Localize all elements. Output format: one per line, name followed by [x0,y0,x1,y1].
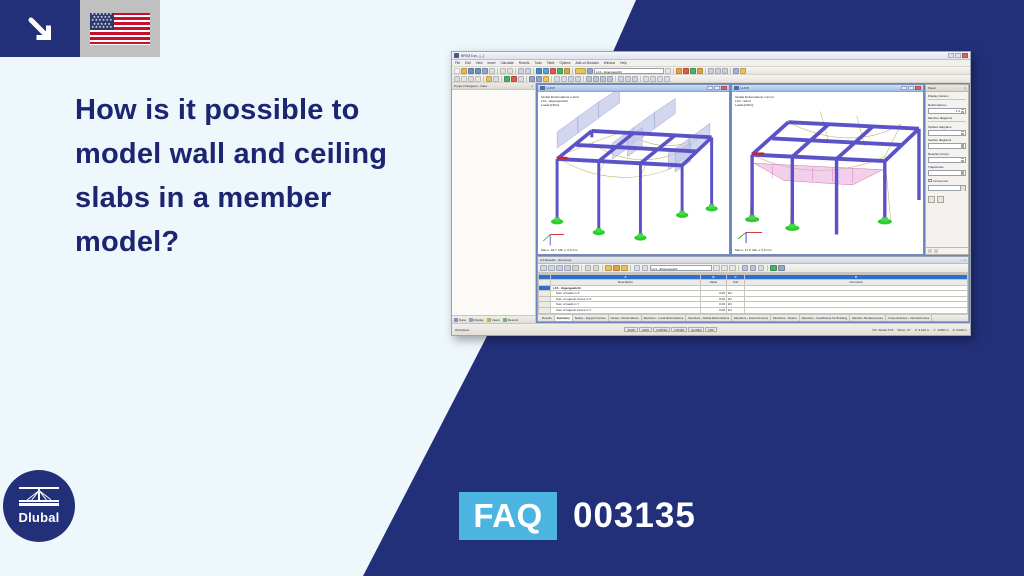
print-preview-icon[interactable] [482,68,488,74]
status-plane: Plane: XY [897,328,910,332]
status-cs: CS: Global XYZ [872,328,893,332]
view-left-title: LUCP [547,86,555,90]
checkbox-box[interactable] [928,179,932,183]
table-view-icon[interactable] [540,265,547,272]
model-3d-left [538,92,729,254]
text-icon[interactable] [561,76,567,82]
select-icon[interactable] [454,76,460,82]
support-forces-icon[interactable] [697,68,703,74]
panel-label-member-diagrams: Member diagrams [928,116,966,120]
calculate-icon[interactable] [676,68,682,74]
rfem-window: RFEM 5.xx - [...] File Edit View Insert … [451,51,971,336]
view-right-footer: Max u: 17.0, Min u: 0.0 mm [735,248,771,252]
deselect-icon[interactable] [593,265,600,272]
navigator-tree[interactable] [452,90,535,315]
toggle-grid[interactable]: GRID [639,327,652,332]
results-tab-nodes-deformations[interactable]: Nodes - Deformations [609,315,642,321]
results-icon[interactable] [683,68,689,74]
panel-foot-icon-1[interactable] [928,249,932,253]
solid-icon[interactable] [493,76,499,82]
section-diagrams-spinner[interactable] [928,143,966,149]
results-tab-cross-sections-internal-forces[interactable]: Cross-Sections - Internal Forces [886,315,932,321]
panel-label-trajectories: Trajectories [928,165,966,169]
arrow-tile [0,0,80,57]
app-icon [454,53,459,58]
layer-icon[interactable] [618,76,624,82]
model-3d-right [732,92,923,254]
status-z: Z: 0.000 m [953,328,967,332]
view-iso-icon[interactable] [664,76,670,82]
panel-label-reaction-forces: Reaction forces [928,152,966,156]
rotate2-icon[interactable] [593,76,599,82]
panel-buttons[interactable] [928,196,966,203]
toggle-dxf[interactable]: DXF [705,327,717,332]
navigator-tab-display[interactable]: Display [469,318,484,322]
display-panel[interactable]: Panel × Display Factors Deformations: [925,84,969,255]
paste-icon[interactable] [518,68,524,74]
surface-load-icon[interactable] [543,76,549,82]
navigator-tab-data[interactable]: Data [454,318,466,322]
help-icon[interactable] [740,68,746,74]
panel-close-icon[interactable]: × [964,86,966,90]
panel-label-deformations: Deformations: [928,103,966,107]
faq-label: FAQ [473,497,542,535]
view-icon [540,86,545,91]
toolbar-row-1[interactable]: LC1 - Eigengewicht [452,67,970,75]
grid-icon[interactable] [708,68,714,74]
results-tab-member-slendernesses[interactable]: Member Slendernesses [850,315,886,321]
status-x: X: 3.120 m [915,328,930,332]
project-navigator[interactable]: Project Navigator - Data × Data Display … [452,83,536,323]
osnap-icon[interactable] [722,68,728,74]
units-icon[interactable] [642,265,649,272]
toggle-glines[interactable]: GLINES [688,327,704,332]
printout-icon[interactable] [778,265,785,272]
print-icon[interactable] [475,68,481,74]
nodal-support-icon[interactable] [504,76,510,82]
color-scale-icon[interactable] [613,265,620,272]
chevron-down-icon[interactable] [960,186,965,191]
dlubal-logo: Dlubal [3,470,75,542]
results-tabs[interactable]: Results Summary Nodes - Support Forces N… [538,314,968,321]
nodal-load-icon[interactable] [529,76,535,82]
open-icon[interactable] [461,68,467,74]
line-icon[interactable] [468,76,474,82]
toggle-cartes[interactable]: CARTES [653,327,670,332]
insert-row-icon[interactable] [750,265,757,272]
menu-item-options[interactable]: Options [560,61,571,65]
panel-group-trajectories[interactable]: Trajectories [928,165,966,176]
menu-item-file[interactable]: File [455,61,460,65]
dimension-icon[interactable] [554,76,560,82]
deformations-icon[interactable] [690,68,696,74]
navigator-tabs[interactable]: Data Display Views Results [452,315,535,323]
spinner-down-icon[interactable] [961,133,964,135]
prev-icon[interactable] [721,265,728,272]
view-left-footer: Max u: 18.7, Min u: 0.0 mm [541,248,577,252]
view-top-icon[interactable] [643,76,649,82]
view-window-left[interactable]: LUCP Global Deformations u-Grid LC1 - Ei… [537,84,730,255]
view-window-right[interactable]: LUCP Global Deformations u [mm] LC2 - Wi… [731,84,924,255]
results-tab-members-global-deformations[interactable]: Members - Global Deformations [686,315,732,321]
results-table-wrapper[interactable]: A B C D Description Value Unit [538,273,968,314]
trajectories-spinner[interactable] [928,170,966,176]
load-case-combo[interactable]: LC1 - Eigengewicht [594,68,664,74]
spinner-down-icon[interactable] [961,146,964,148]
close-icon[interactable] [915,86,921,91]
node-icon[interactable] [461,76,467,82]
panel-label-surface-diagrams: Surface diagrams [928,125,966,129]
group-icon[interactable] [632,76,638,82]
view-right-controls[interactable] [901,86,921,91]
navigator-tab-views[interactable]: Views [487,318,500,322]
member-load-icon[interactable] [536,76,542,82]
material-icon[interactable] [575,76,581,82]
close-icon[interactable] [721,86,727,91]
panel-title: Panel [928,86,936,90]
spinner-down-icon[interactable] [961,111,964,113]
zoom-all-icon[interactable] [557,68,563,74]
slide-canvas: ★★★★★★★★★★★★★★★★★★★★★★★★★★★★ How is it p… [0,0,1024,576]
line-support-icon[interactable] [511,76,517,82]
chevron-down-icon[interactable] [665,68,671,74]
maximize-icon[interactable] [955,53,961,58]
settings-icon[interactable] [937,196,944,203]
panel-body[interactable]: Display Factors Deformations: 1.0 [926,92,968,247]
navigator-close-icon[interactable]: × [531,84,533,88]
spinner-down-icon[interactable] [961,160,964,162]
save-icon[interactable] [468,68,474,74]
minimize-icon[interactable] [707,86,713,91]
undo-icon[interactable] [525,68,531,74]
panel-group-section-diagrams[interactable]: Section diagrams [928,138,966,149]
window-title: RFEM 5.xx - [...] [461,54,484,58]
increments-select[interactable] [928,185,966,191]
view-icon [734,86,739,91]
close-icon[interactable] [962,53,968,58]
render-icon[interactable] [575,68,586,74]
select-all-icon[interactable] [585,265,592,272]
results-tab-nodes-support-forces[interactable]: Nodes - Support Forces [573,315,609,321]
surface-diagrams-spinner[interactable] [928,130,966,136]
copy-icon[interactable] [507,68,513,74]
edit-icon[interactable] [928,196,935,203]
hinge-icon[interactable] [518,76,524,82]
chevron-down-icon[interactable] [713,265,720,272]
menu-item-view[interactable]: View [476,61,483,65]
results-titlebar: 4.0 Results - Summary – × [538,257,968,264]
toolbar-row-2[interactable] [452,75,970,83]
wireframe-icon[interactable] [587,68,593,74]
mirror-icon[interactable] [586,76,592,82]
results-title: 4.0 Results - Summary [540,258,571,262]
edit-row-icon[interactable] [742,265,749,272]
results-toolbar[interactable]: LC1 - Eigengewicht [538,264,968,273]
window-body: Project Navigator - Data × Data Display … [452,83,970,323]
deformations-value: 1.0 [956,109,960,113]
table-export-icon[interactable] [564,265,571,272]
bridge-icon [19,487,59,508]
menu-item-edit[interactable]: Edit [465,61,471,65]
view-left-controls[interactable] [707,86,727,91]
viewport-left[interactable]: Global Deformations u-Grid LC1 - Eigenge… [538,92,729,254]
flag-tile: ★★★★★★★★★★★★★★★★★★★★★★★★★★★★ [80,0,160,57]
menu-item-help[interactable]: Help [620,61,627,65]
print-report-icon[interactable] [733,68,739,74]
table-filter-icon[interactable] [548,265,555,272]
page-title: How is it possible to model wall and cei… [75,88,405,264]
view-left-titlebar: LUCP [538,85,729,92]
view-front-icon[interactable] [650,76,656,82]
reaction-forces-spinner[interactable] [928,157,966,163]
surface-icon[interactable] [486,76,492,82]
panel-foot-icon-2[interactable] [934,249,938,253]
cross-section-icon[interactable] [568,76,574,82]
results-table[interactable]: A B C D Description Value Unit [538,274,968,314]
menu-item-window[interactable]: Window [604,61,615,65]
minimize-icon[interactable]: – [961,258,963,262]
visibility-icon[interactable] [625,76,631,82]
view-side-icon[interactable] [657,76,663,82]
logo-text: Dlubal [19,510,60,525]
menu-item-addon-modules[interactable]: Add-on Modules [576,61,599,65]
results-tab-members-internal-forces[interactable]: Members - Internal Forces [732,315,771,321]
deformations-spinner[interactable]: 1.0 [928,108,966,114]
results-pane[interactable]: 4.0 Results - Summary – × [537,256,969,322]
menu-item-tools[interactable]: Tools [534,61,541,65]
menu-bar[interactable]: File Edit View Insert Calculate Results … [452,60,970,67]
results-load-case-combo[interactable]: LC1 - Eigengewicht [650,265,712,271]
move-icon[interactable] [600,76,606,82]
toggle-osnap[interactable]: OSNAP [671,327,687,332]
grid-toggle-icon[interactable] [634,265,641,272]
status-bar: Workplane SNAP GRID CARTES OSNAP GLINES … [452,323,970,335]
faq-badge: FAQ [459,492,557,540]
scale-icon[interactable] [607,76,613,82]
results-tab-members-local-deformations[interactable]: Members - Local Deformations [642,315,687,321]
view-right-title: LUCP [741,86,749,90]
highlight-icon[interactable] [605,265,612,272]
panel-group-surface-diagrams[interactable]: Surface diagrams [928,125,966,136]
navigator-title: Project Navigator - Data [454,84,487,88]
menu-item-insert[interactable]: Insert [488,61,496,65]
zoom-window-icon[interactable] [550,68,556,74]
menu-item-calculate[interactable]: Calculate [500,61,513,65]
maximize-icon[interactable] [908,86,914,91]
status-coordinates: CS: Global XYZ Plane: XY X: 3.120 m Y: -… [872,328,967,332]
us-flag-icon: ★★★★★★★★★★★★★★★★★★★★★★★★★★★★ [90,13,150,45]
delete-row-icon[interactable] [758,265,765,272]
panel-heading: Display Factors [928,94,966,98]
panel-footer[interactable] [926,247,968,254]
results-tab-results[interactable]: Results [540,315,555,321]
table-settings-icon[interactable] [556,265,563,272]
apply-icon[interactable] [770,265,777,272]
spinner-down-icon[interactable] [961,173,964,175]
increments-label: Increments [933,179,948,183]
pan-icon[interactable] [564,68,570,74]
results-tab-members-coefficients-buckling[interactable]: Members - Coefficients for Buckling [800,315,851,321]
menu-item-results[interactable]: Results [519,61,530,65]
toggle-snap[interactable]: SNAP [624,327,638,332]
mdi-workarea: LUCP Global Deformations u-Grid LC1 - Ei… [536,83,970,323]
member-icon[interactable] [475,76,481,82]
navigator-tab-results[interactable]: Results [503,318,518,322]
increments-checkbox[interactable]: Increments [928,179,966,183]
panel-heading-group: Display Factors [928,94,966,100]
panel-group-member-diagrams[interactable]: Member diagrams [928,116,966,122]
status-toggles[interactable]: SNAP GRID CARTES OSNAP GLINES DXF [471,327,870,332]
window-controls[interactable] [948,53,968,58]
status-workplane: Workplane [455,328,469,332]
panel-label-section-diagrams: Section diagrams [928,138,966,142]
snap-icon[interactable] [715,68,721,74]
new-icon[interactable] [454,68,460,74]
panel-group-reaction-forces[interactable]: Reaction forces [928,152,966,163]
cut-icon[interactable] [500,68,506,74]
viewport-right[interactable]: Global Deformations u [mm] LC2 - Wind Lo… [732,92,923,254]
table-print-icon[interactable] [572,265,579,272]
faq-number: 003135 [573,492,696,540]
minimize-icon[interactable] [901,86,907,91]
sort-icon[interactable] [621,265,628,272]
results-controls[interactable]: – × [961,258,966,262]
panel-group-deformations[interactable]: Deformations: 1.0 [928,103,966,114]
zoom-in-icon[interactable] [536,68,542,74]
next-icon[interactable] [729,265,736,272]
window-titlebar: RFEM 5.xx - [...] [452,52,970,60]
menu-item-table[interactable]: Table [547,61,555,65]
page-setup-icon[interactable] [489,68,495,74]
minimize-icon[interactable] [948,53,954,58]
navigator-header: Project Navigator - Data × [452,83,535,90]
results-tab-summary[interactable]: Summary [555,315,573,321]
arrow-down-right-icon [23,12,57,46]
close-icon[interactable]: × [964,258,966,262]
view-right-titlebar: LUCP [732,85,923,92]
mdi-row: LUCP Global Deformations u-Grid LC1 - Ei… [537,84,969,255]
zoom-out-icon[interactable] [543,68,549,74]
panel-header: Panel × [926,85,968,92]
status-y: Y: -0.860 m [933,328,948,332]
maximize-icon[interactable] [714,86,720,91]
results-tab-members-strains[interactable]: Members - Strains [771,315,800,321]
